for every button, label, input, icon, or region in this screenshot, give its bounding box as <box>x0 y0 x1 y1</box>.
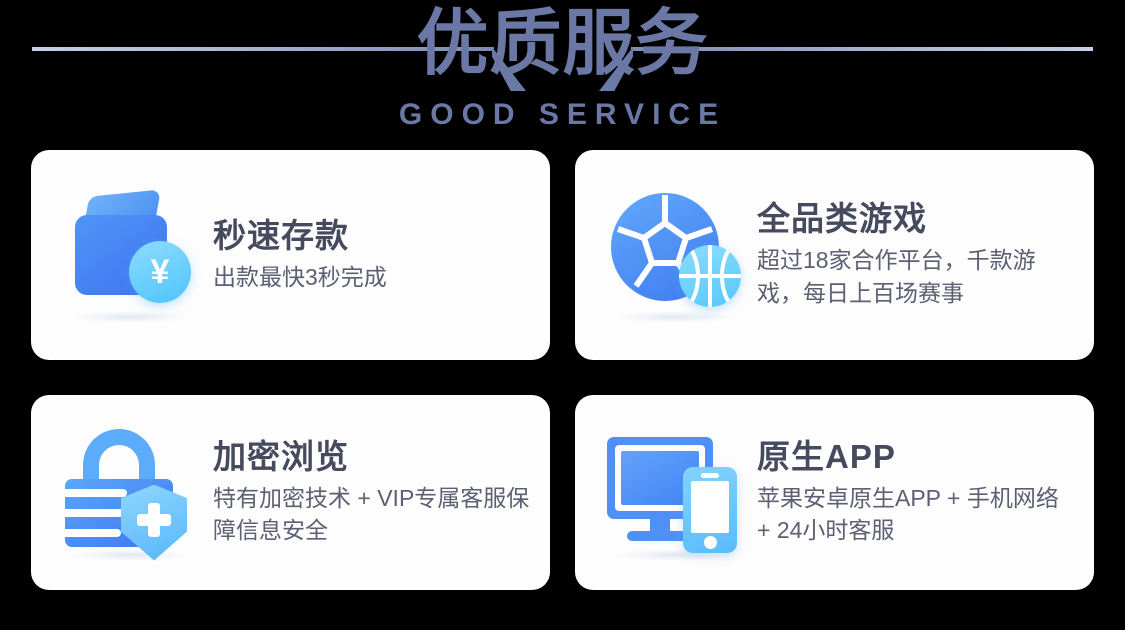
card-text-block: 全品类游戏 超过18家合作平台，千款游戏，每日上百场赛事 <box>751 200 1074 309</box>
phone-screen <box>691 481 729 533</box>
soccer-basketball-icon <box>601 185 751 325</box>
card-text-block: 原生APP 苹果安卓原生APP + 手机网络 + 24小时客服 <box>751 438 1074 547</box>
banner-header: 优质服务 GOOD SERVICE <box>0 0 1125 145</box>
card-title: 原生APP <box>757 438 1074 477</box>
phone-speaker <box>701 473 719 478</box>
card-title: 加密浏览 <box>213 438 530 477</box>
yen-coin-icon: ¥ <box>129 241 191 303</box>
feature-card-games[interactable]: 全品类游戏 超过18家合作平台，千款游戏，每日上百场赛事 <box>575 150 1094 360</box>
feature-card-grid: ¥ 秒速存款 出款最快3秒完成 <box>31 150 1094 590</box>
card-description: 特有加密技术 + VIP专属客服保障信息安全 <box>213 482 530 547</box>
lock-stripe <box>65 489 127 497</box>
feature-card-encryption[interactable]: 加密浏览 特有加密技术 + VIP专属客服保障信息安全 <box>31 395 550 590</box>
card-text-block: 秒速存款 出款最快3秒完成 <box>207 217 387 294</box>
cross-icon <box>137 503 171 537</box>
card-description: 出款最快3秒完成 <box>213 261 387 294</box>
feature-card-deposit[interactable]: ¥ 秒速存款 出款最快3秒完成 <box>31 150 550 360</box>
lock-shield-icon <box>57 423 207 563</box>
wallet-yen-icon: ¥ <box>57 185 207 325</box>
card-title: 全品类游戏 <box>757 200 1074 239</box>
icon-shadow <box>71 549 191 561</box>
phone-home-button <box>704 536 717 549</box>
page-subtitle: GOOD SERVICE <box>0 98 1125 132</box>
basketball-icon <box>679 245 741 307</box>
page-title: 优质服务 <box>0 6 1125 82</box>
card-text-block: 加密浏览 特有加密技术 + VIP专属客服保障信息安全 <box>207 438 530 547</box>
lock-stripe <box>65 529 121 537</box>
icon-shadow <box>615 311 735 323</box>
feature-card-native-app[interactable]: 原生APP 苹果安卓原生APP + 手机网络 + 24小时客服 <box>575 395 1094 590</box>
card-description: 苹果安卓原生APP + 手机网络 + 24小时客服 <box>757 482 1074 547</box>
promo-banner: 优质服务 GOOD SERVICE ¥ 秒速存款 出款最快3秒完成 <box>0 0 1125 630</box>
card-description: 超过18家合作平台，千款游戏，每日上百场赛事 <box>757 244 1074 309</box>
icon-shadow <box>71 311 191 323</box>
card-title: 秒速存款 <box>213 217 387 256</box>
monitor-phone-icon <box>601 423 751 563</box>
